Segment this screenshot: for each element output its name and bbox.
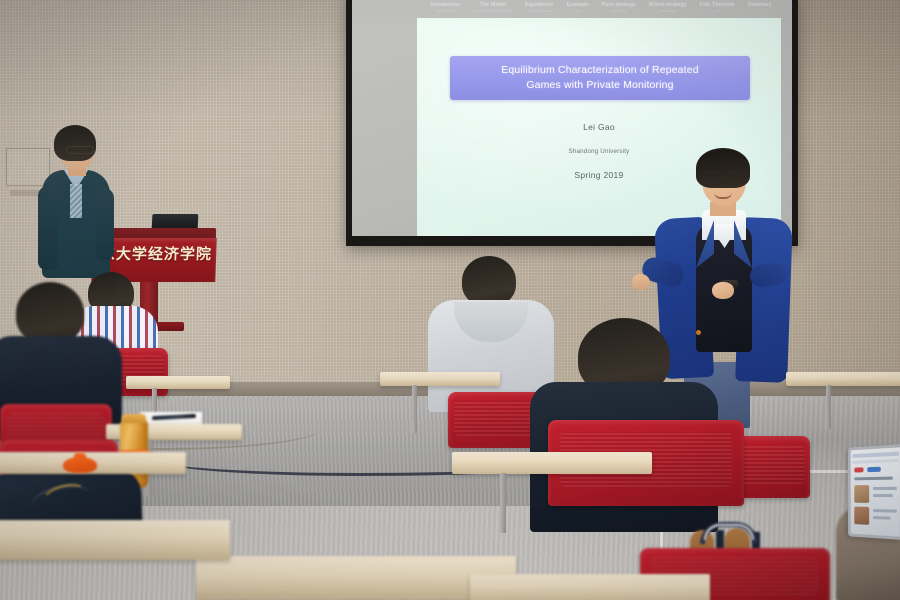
desk[interactable] (470, 574, 710, 600)
slide-nav-dots: ooooooooooooooooooo (473, 9, 512, 13)
audience-gray-hoodie-head (462, 256, 516, 306)
slide-title-line-2: Games with Private Monitoring (526, 79, 673, 91)
orange-cup-lid[interactable] (63, 457, 97, 473)
presenter-glasses-bridge (721, 176, 725, 177)
backpack-handle-stripe (704, 524, 754, 540)
slide-nav-section-2[interactable]: Equilibriumooooooooooooo (525, 2, 553, 13)
desk-leg (500, 473, 506, 533)
slide-title-line-1: Equilibrium Characterization of Repeated (501, 64, 698, 76)
desk[interactable] (452, 452, 652, 474)
slide-nav-label: Pure-strategy (602, 2, 636, 8)
slide-nav-label: Mixed-strategy (649, 2, 687, 8)
presenter-glasses (704, 172, 721, 182)
slide-nav-label: Introduction (430, 2, 460, 8)
presenter-right-hand (712, 282, 734, 299)
slide-nav-dots: oo (567, 9, 589, 13)
laptop-text-line (854, 477, 892, 481)
slide-nav-dots: ooooooooo (649, 9, 687, 13)
slide-nav-section-7[interactable]: Summaryo (748, 2, 772, 13)
open-laptop-screen[interactable] (848, 444, 900, 540)
slide-nav-label: Equilibrium (525, 2, 553, 8)
slide-nav-section-1[interactable]: The Modelooooooooooooooooooo (473, 2, 512, 13)
laptop-text-line (873, 494, 893, 497)
slide-nav-dots: ooooooooo (430, 9, 460, 13)
laptop-text-line (873, 487, 897, 490)
slide-nav-section-6[interactable]: Folk Theoremooo (700, 2, 735, 13)
laptop-toolbar (852, 459, 898, 464)
presenter-hair (696, 148, 750, 188)
slide-title: Equilibrium Characterization of Repeated… (491, 63, 708, 93)
podium-man-shirt (70, 184, 82, 218)
podium-man-left-arm (38, 186, 58, 270)
laptop-text-line (873, 509, 897, 513)
laptop-browser-bar (852, 452, 898, 458)
slide-title-banner: Equilibrium Characterization of Repeated… (450, 56, 750, 100)
laptop-thumbnail (854, 507, 869, 525)
presenter-glasses (725, 172, 742, 182)
desk[interactable] (0, 520, 230, 560)
podium-man-glasses (66, 146, 94, 154)
seminar-room-photo: Equilibrium Characterization of Repeated… (0, 0, 900, 600)
presenter-jacket-button (696, 330, 701, 335)
desk[interactable] (786, 372, 900, 386)
laptop-thumbnail (854, 485, 869, 503)
slide-nav-dots: ooo (700, 9, 735, 13)
slide-nav-section-0[interactable]: Introductionooooooooo (430, 2, 460, 13)
slide-nav-section-4[interactable]: Pure-strategyoooooooo (602, 2, 636, 13)
podium-man-hair (54, 125, 96, 161)
desk-leg (412, 385, 417, 433)
slide-nav-label: The Model (473, 2, 512, 8)
person-standing-at-podium (0, 0, 130, 300)
slide-author: Lei Gao (417, 122, 781, 132)
slide-nav-dots: ooooooooooooo (525, 9, 553, 13)
chair[interactable] (734, 436, 810, 498)
slide-section-navigation[interactable]: IntroductionoooooooooThe Modeloooooooooo… (352, 2, 792, 18)
slide-nav-dots: o (748, 9, 772, 13)
slide-nav-dots: oooooooo (602, 9, 636, 13)
laptop-page-accent (854, 467, 863, 472)
thermos-lid[interactable] (122, 414, 146, 423)
laptop-text-line (873, 516, 891, 520)
slide-nav-label: Summary (748, 2, 772, 8)
slide-nav-section-5[interactable]: Mixed-strategyooooooooo (649, 2, 687, 13)
desk-leg (826, 385, 831, 429)
slide-nav-label: Example (567, 2, 589, 8)
desk[interactable] (126, 376, 230, 389)
desk[interactable] (196, 556, 516, 600)
laptop-page-accent (867, 467, 880, 472)
audience-dark-jacket-head (16, 282, 84, 344)
slide-nav-section-3[interactable]: Exampleoo (567, 2, 589, 13)
desk[interactable] (380, 372, 500, 386)
slide-nav-label: Folk Theorem (700, 2, 735, 8)
podium-man-right-arm (96, 188, 114, 260)
